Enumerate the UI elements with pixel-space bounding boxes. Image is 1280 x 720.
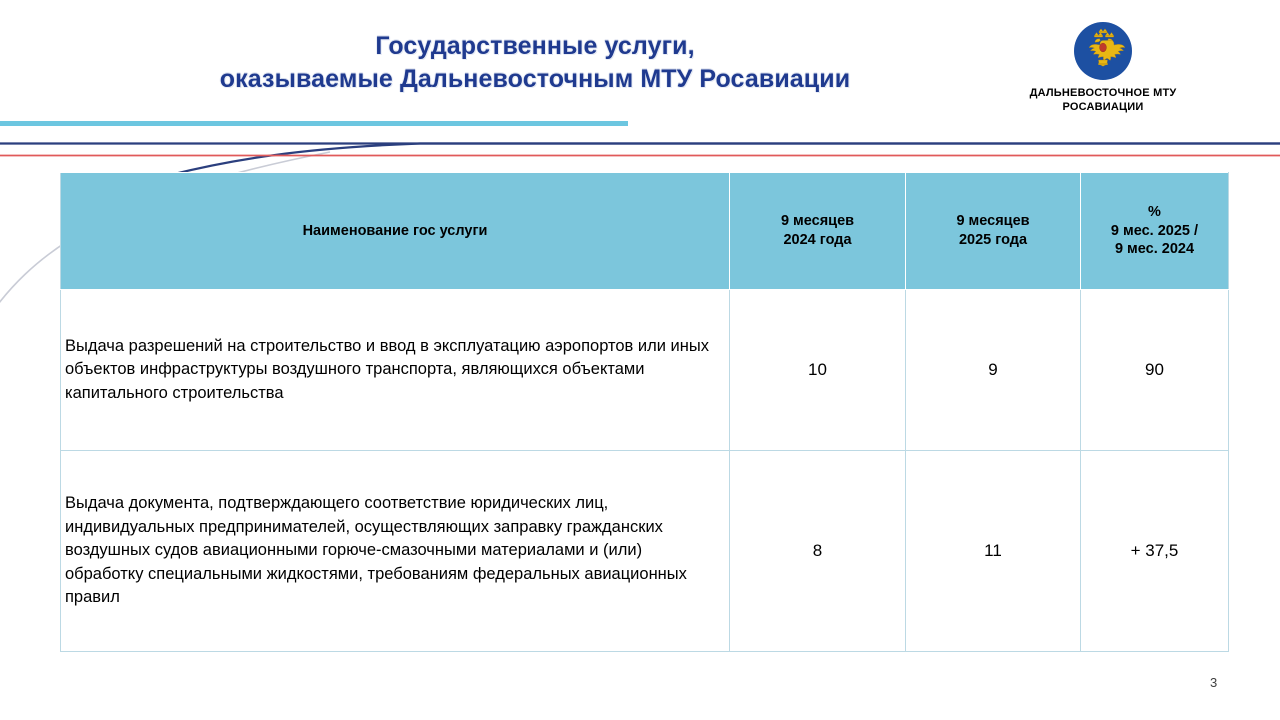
cell-value-2024: 8 [730,451,906,652]
cell-value-2025: 9 [906,290,1081,451]
column-header-service-name: Наименование гос услуги [61,173,730,290]
table-row: Выдача документа, подтверждающего соотве… [61,451,1229,652]
cell-value-2024: 10 [730,290,906,451]
column-header-2024: 9 месяцев 2024 года [730,173,906,290]
cell-service-name: Выдача разрешений на строительство и вво… [61,290,730,451]
page-title: Государственные услуги, оказываемые Даль… [120,30,950,96]
swoosh-navy [170,144,1280,176]
table-row: Выдача разрешений на строительство и вво… [61,290,1229,451]
cell-value-2025: 11 [906,451,1081,652]
cell-value-percent: 90 [1081,290,1229,451]
column-header-percent: % 9 мес. 2025 / 9 мес. 2024 [1081,173,1229,290]
cell-service-name: Выдача документа, подтверждающего соотве… [61,451,730,652]
organization-logo: ДАЛЬНЕВОСТОЧНОЕ МТУ РОСАВИАЦИИ [1003,22,1203,115]
cell-value-percent: + 37,5 [1081,451,1229,652]
gos-services-table: Наименование гос услуги 9 месяцев 2024 г… [60,172,1229,652]
slide-canvas: Государственные услуги, оказываемые Даль… [0,0,1280,720]
table-header-row: Наименование гос услуги 9 месяцев 2024 г… [61,173,1229,290]
russian-coat-of-arms-eagle-icon [1074,22,1132,80]
column-header-2025: 9 месяцев 2025 года [906,173,1081,290]
page-number: 3 [1210,675,1217,690]
logo-caption: ДАЛЬНЕВОСТОЧНОЕ МТУ РОСАВИАЦИИ [1003,87,1203,115]
